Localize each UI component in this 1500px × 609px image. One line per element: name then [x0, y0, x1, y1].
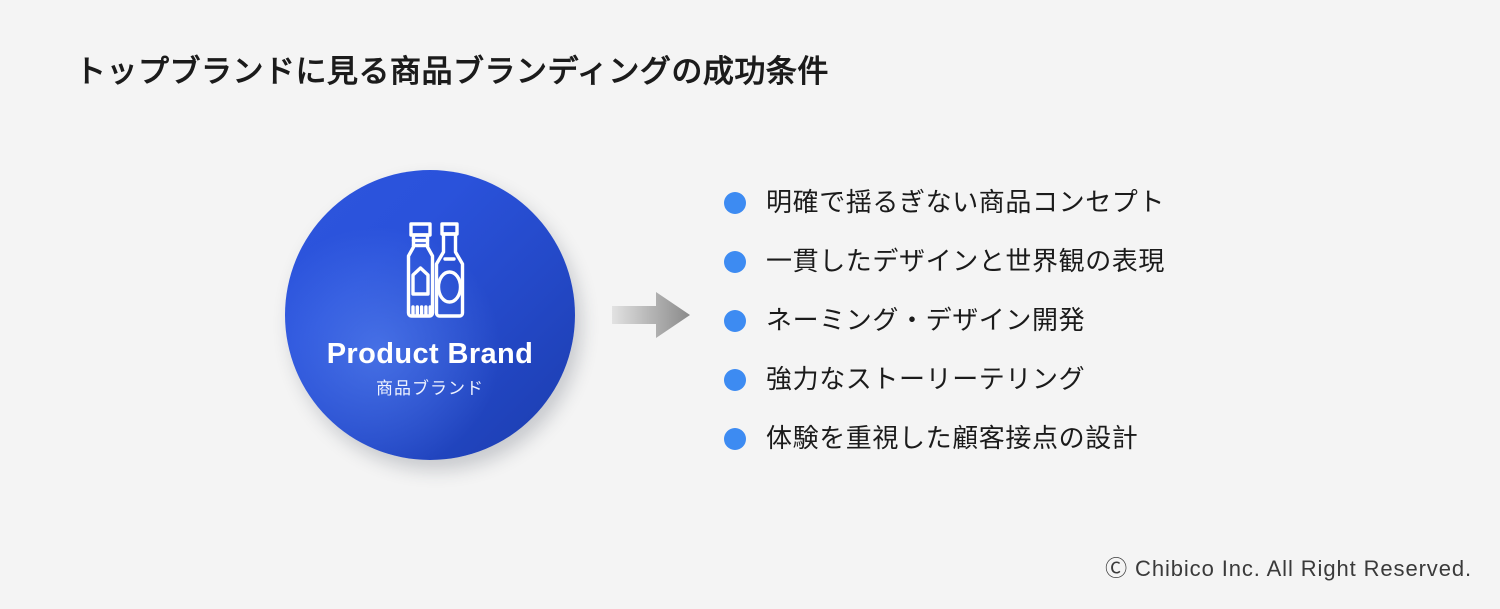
right-arrow-icon [612, 292, 690, 338]
bullet-dot-icon [724, 192, 746, 214]
copyright-text: Ⓒ Chibico Inc. All Right Reserved. [1105, 551, 1472, 583]
badge-subtitle: 商品ブランド [376, 380, 484, 397]
list-item: ネーミング・デザイン開発 [724, 291, 1344, 350]
list-item-label: ネーミング・デザイン開発 [766, 305, 1085, 336]
bullet-dot-icon [724, 251, 746, 273]
slide-canvas: トップブランドに見る商品ブランディングの成功条件 [0, 0, 1500, 609]
bullet-dot-icon [724, 369, 746, 391]
list-item-label: 一貫したデザインと世界観の表現 [766, 246, 1165, 277]
product-brand-badge: Product Brand 商品ブランド [285, 170, 575, 460]
list-item: 一貫したデザインと世界観の表現 [724, 232, 1344, 291]
list-item: 明確で揺るぎない商品コンセプト [724, 173, 1344, 232]
bullet-dot-icon [724, 310, 746, 332]
badge-content: Product Brand 商品ブランド [285, 170, 575, 460]
page-title: トップブランドに見る商品ブランディングの成功条件 [75, 46, 829, 91]
list-item-label: 明確で揺るぎない商品コンセプト [766, 187, 1165, 218]
list-item: 体験を重視した顧客接点の設計 [724, 409, 1344, 468]
two-bottles-icon [382, 218, 478, 322]
badge-title: Product Brand [327, 340, 534, 369]
success-conditions-list: 明確で揺るぎない商品コンセプト 一貫したデザインと世界観の表現 ネーミング・デザ… [724, 173, 1344, 468]
list-item-label: 体験を重視した顧客接点の設計 [766, 423, 1138, 454]
list-item-label: 強力なストーリーテリング [766, 364, 1085, 395]
bullet-dot-icon [724, 428, 746, 450]
list-item: 強力なストーリーテリング [724, 350, 1344, 409]
